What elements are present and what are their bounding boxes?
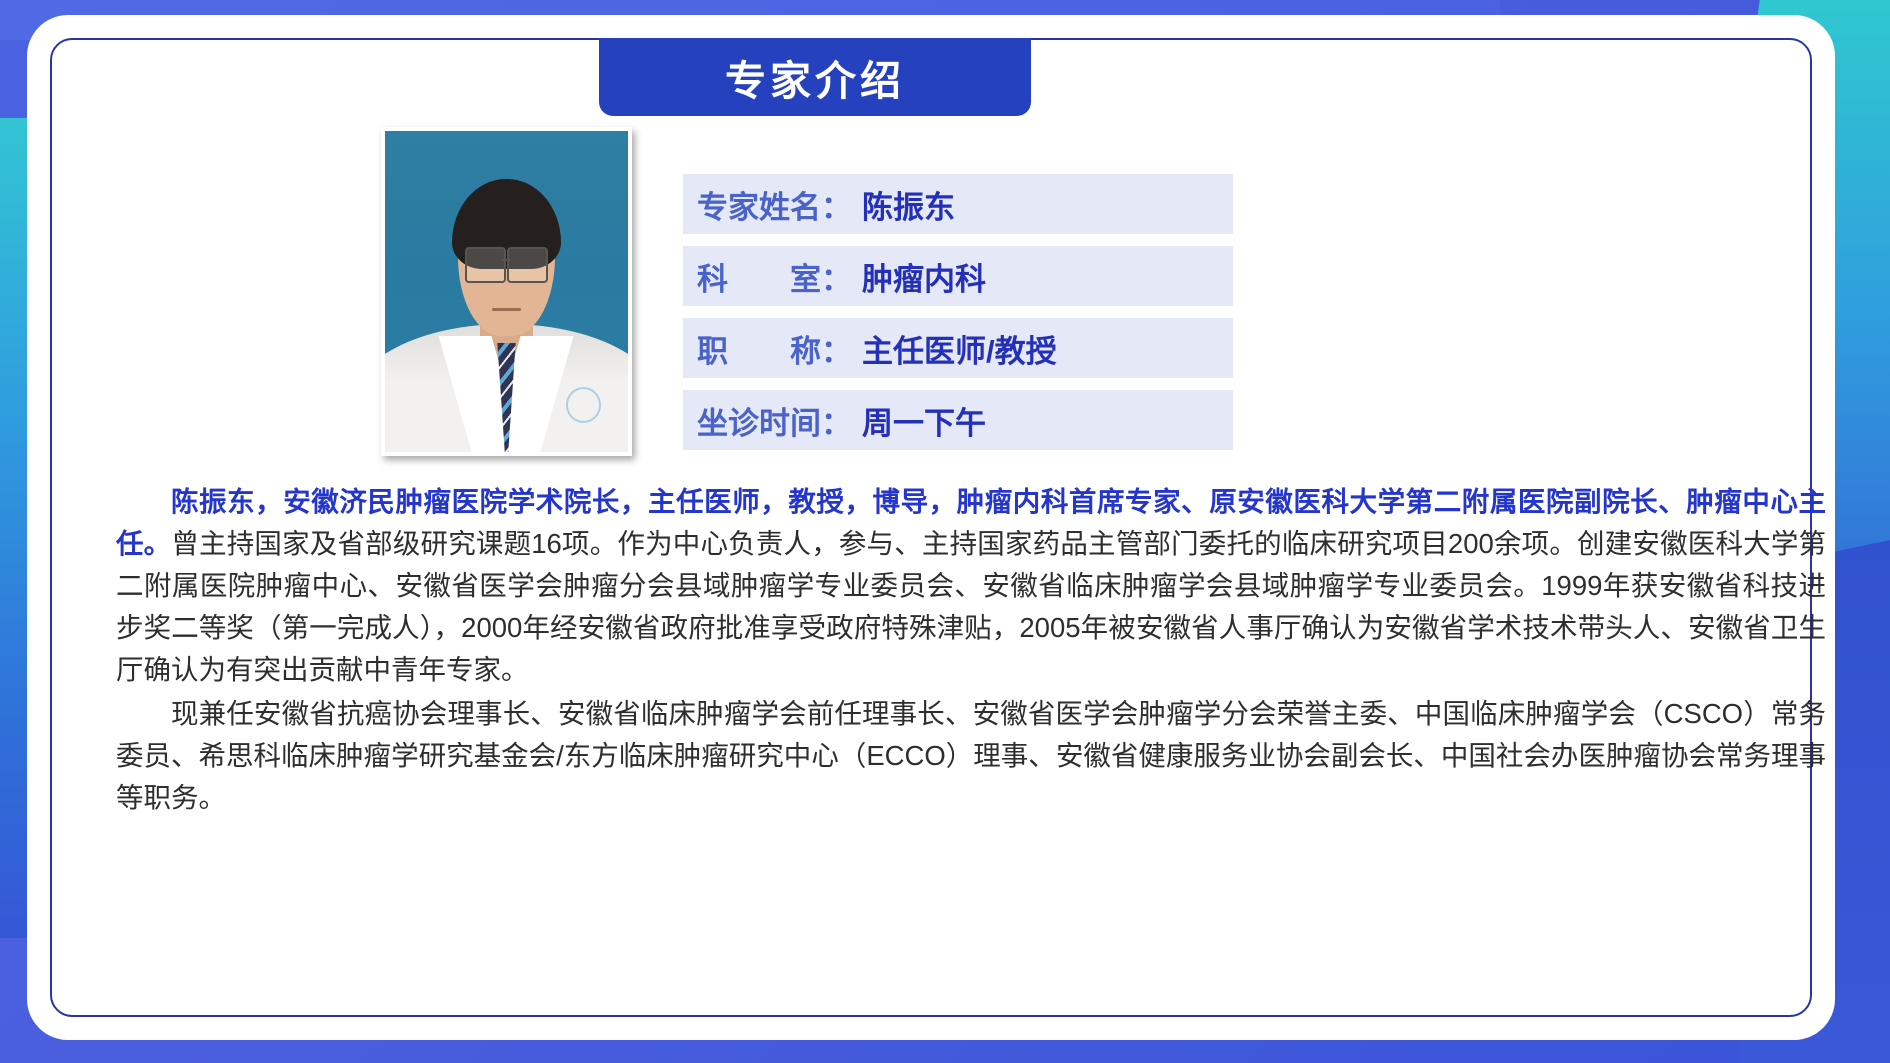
doctor-portrait-image xyxy=(385,131,628,452)
info-value-name: 陈振东 xyxy=(862,182,955,227)
info-label-department: 科 室： xyxy=(697,254,852,299)
info-value-clinic-time: 周一下午 xyxy=(862,398,986,443)
doctor-portrait-frame xyxy=(381,127,632,456)
portrait-glasses-right-lens xyxy=(507,247,547,283)
table-row: 职 称： 主任医师/教授 xyxy=(683,318,1233,378)
table-row: 坐诊时间： 周一下午 xyxy=(683,390,1233,450)
doctor-info-table: 专家姓名： 陈振东 科 室： 肿瘤内科 职 称： 主任医师/教授 坐诊时间： 周… xyxy=(683,174,1233,462)
info-label-name: 专家姓名： xyxy=(697,182,852,227)
info-value-title: 主任医师/教授 xyxy=(862,326,1057,371)
table-row: 专家姓名： 陈振东 xyxy=(683,174,1233,234)
portrait-glasses-left-lens xyxy=(465,247,505,283)
table-row: 科 室： 肿瘤内科 xyxy=(683,246,1233,306)
biography-section: 陈振东，安徽济民肿瘤医院学术院长，主任医师，教授，博导，肿瘤内科首席专家、原安徽… xyxy=(116,481,1826,819)
profile-card: 专家介绍 专家姓名： xyxy=(38,26,1824,1029)
biography-body-1: 曾主持国家及省部级研究课题16项。作为中心负责人，参与、主持国家药品主管部门委托… xyxy=(116,528,1826,685)
info-label-title: 职 称： xyxy=(697,326,852,371)
biography-paragraph-1: 陈振东，安徽济民肿瘤医院学术院长，主任医师，教授，博导，肿瘤内科首席专家、原安徽… xyxy=(116,481,1826,691)
info-label-clinic-time: 坐诊时间： xyxy=(697,398,852,443)
card-content: 专家姓名： 陈振东 科 室： 肿瘤内科 职 称： 主任医师/教授 坐诊时间： 周… xyxy=(38,26,1824,1029)
biography-paragraph-2: 现兼任安徽省抗癌协会理事长、安徽省临床肿瘤学会前任理事长、安徽省医学会肿瘤学分会… xyxy=(116,693,1826,819)
info-value-department: 肿瘤内科 xyxy=(862,254,986,299)
hospital-emblem-icon xyxy=(566,387,602,423)
portrait-glasses-bridge xyxy=(502,259,512,261)
portrait-mouth xyxy=(492,308,521,311)
